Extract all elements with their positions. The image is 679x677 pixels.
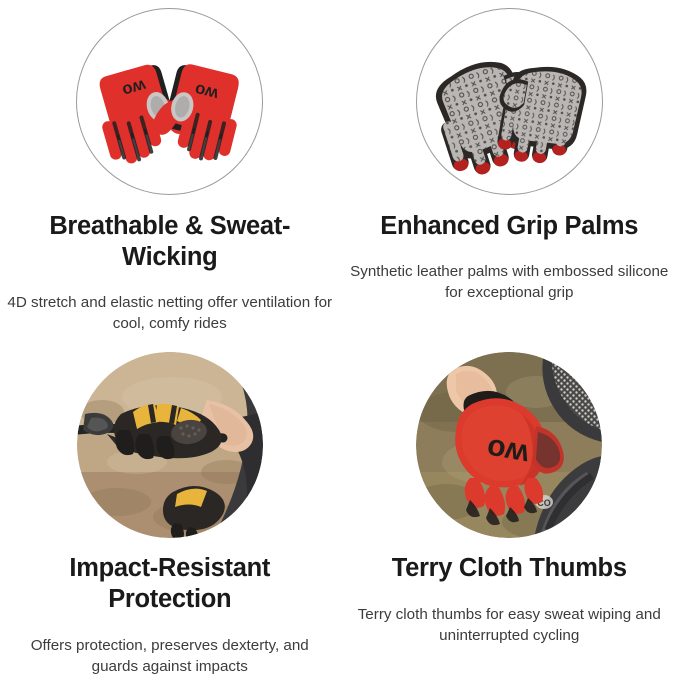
red-glove-wiping-sweat-photo-image: CO wo: [416, 352, 602, 538]
feature-description: Offers protection, preserves dexterty, a…: [5, 636, 335, 677]
feature-headline: Breathable & Sweat-Wicking: [14, 211, 326, 273]
feature-headline: Enhanced Grip Palms: [374, 211, 644, 242]
product-feature-grid: wo: [0, 0, 679, 675]
feature-card-breathable: wo: [0, 0, 340, 345]
feature-description: Synthetic leather palms with embossed si…: [344, 262, 674, 303]
red-cycling-gloves-pair-image: wo: [76, 8, 263, 195]
gloved-hand-on-handlebar-photo-image: [77, 352, 263, 538]
feature-card-grip-palms: Enhanced Grip Palms Synthetic leather pa…: [340, 0, 679, 345]
feature-description: Terry cloth thumbs for easy sweat wiping…: [344, 605, 674, 646]
gray-silicone-palm-gloves-image: [416, 8, 603, 195]
feature-description: 4D stretch and elastic netting offer ven…: [5, 293, 335, 334]
feature-card-terry-thumbs: CO wo: [340, 345, 679, 675]
feature-headline: Terry Cloth Thumbs: [386, 553, 633, 584]
feature-card-impact-protection: Impact-Resistant Protection Offers prote…: [0, 345, 340, 675]
feature-headline: Impact-Resistant Protection: [14, 553, 326, 615]
